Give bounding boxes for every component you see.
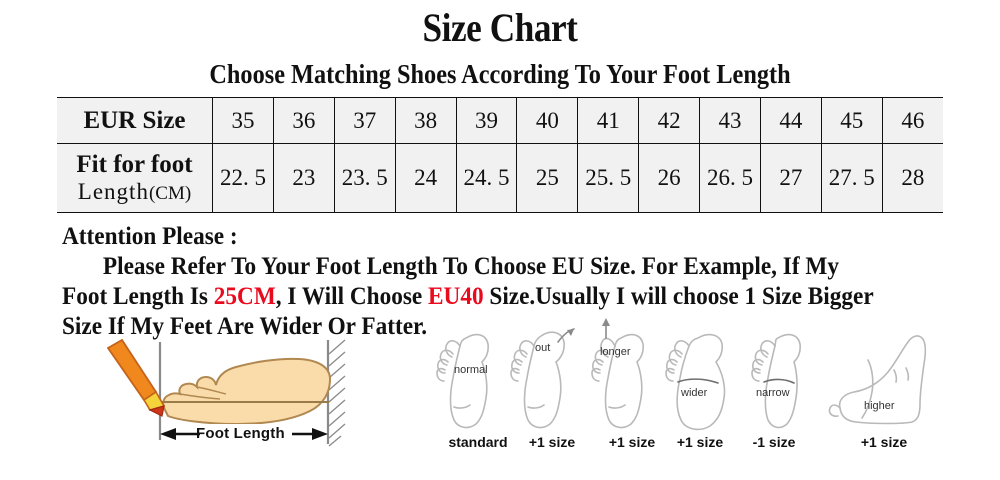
row-label-eur-size: EUR Size — [57, 98, 213, 144]
attention-part2: , I Will Choose — [276, 283, 428, 310]
table-cell-eur: 42 — [639, 98, 700, 144]
foot-caption-higher: +1 size — [844, 434, 924, 450]
table-cell-eur: 41 — [578, 98, 639, 144]
table-cell-length: 25. 5 — [578, 144, 639, 213]
table-row-foot-length: Fit for foot Length(CM) 22. 5 23 23. 5 2… — [57, 144, 943, 213]
row-label-line1: Fit for foot — [57, 151, 212, 179]
foot-label-longer: longer — [600, 346, 631, 358]
pencil-icon — [108, 340, 164, 416]
table-cell-length: 24 — [395, 144, 456, 213]
foot-label-wider: wider — [681, 387, 707, 399]
table-cell-eur: 39 — [456, 98, 517, 144]
table-cell-eur: 46 — [882, 98, 943, 144]
table-cell-eur: 37 — [334, 98, 395, 144]
table-cell-length: 27 — [760, 144, 821, 213]
table-cell-length: 26. 5 — [700, 144, 761, 213]
size-chart-table: EUR Size 35 36 37 38 39 40 41 42 43 44 4… — [57, 97, 943, 213]
foot-caption-wider: +1 size — [664, 434, 736, 450]
table-cell-length: 23 — [273, 144, 334, 213]
foot-label-out: out — [535, 342, 550, 354]
attention-highlight-size: EU40 — [428, 283, 484, 310]
table-cell-eur: 45 — [821, 98, 882, 144]
foot-length-label: Foot Length — [196, 425, 285, 442]
table-cell-length: 27. 5 — [821, 144, 882, 213]
attention-highlight-length: 25CM — [214, 283, 276, 310]
footprint-narrow — [752, 335, 800, 428]
row-label-length-word: Length — [78, 179, 149, 204]
table-cell-eur: 35 — [213, 98, 274, 144]
attention-heading: Attention Please : — [62, 222, 880, 252]
foot-type-diagrams: normal out longer wider narrow higher st… — [432, 312, 952, 472]
foot-label-higher: higher — [864, 400, 895, 412]
table-cell-length: 24. 5 — [456, 144, 517, 213]
footprint-longer — [592, 318, 643, 427]
foot-caption-standard: standard — [440, 434, 516, 450]
table-cell-eur: 44 — [760, 98, 821, 144]
foot-caption-out: +1 size — [516, 434, 588, 450]
table-cell-eur: 43 — [700, 98, 761, 144]
foot-caption-longer: +1 size — [596, 434, 668, 450]
row-label-unit: (CM) — [149, 183, 191, 204]
foot-silhouette — [163, 359, 330, 424]
table-cell-eur: 36 — [273, 98, 334, 144]
table-row-eur-size: EUR Size 35 36 37 38 39 40 41 42 43 44 4… — [57, 98, 943, 144]
table-cell-length: 28 — [882, 144, 943, 213]
row-label-line2: Length(CM) — [57, 179, 212, 205]
wall-hatching — [329, 340, 345, 446]
table-cell-length: 22. 5 — [213, 144, 274, 213]
table-cell-length: 23. 5 — [334, 144, 395, 213]
row-label-foot-length: Fit for foot Length(CM) — [57, 144, 213, 213]
table-cell-eur: 40 — [517, 98, 578, 144]
page-subtitle: Choose Matching Shoes According To Your … — [50, 58, 950, 90]
foot-label-normal: normal — [454, 364, 488, 376]
foot-caption-narrow: -1 size — [738, 434, 810, 450]
footprint-normal — [437, 335, 488, 428]
page-title: Size Chart — [60, 6, 940, 50]
foot-label-narrow: narrow — [756, 387, 790, 399]
table-cell-length: 26 — [639, 144, 700, 213]
table-cell-eur: 38 — [395, 98, 456, 144]
footprint-wider — [666, 335, 725, 430]
pencil-body — [108, 340, 156, 400]
table-cell-length: 25 — [517, 144, 578, 213]
